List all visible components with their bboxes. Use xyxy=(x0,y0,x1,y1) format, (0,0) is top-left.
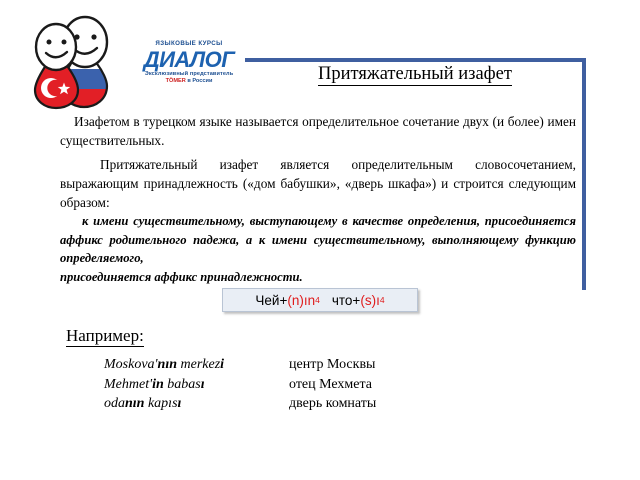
example-1-stem: babas xyxy=(164,377,201,392)
title-frame-right-line xyxy=(582,58,586,290)
examples-heading: Например: xyxy=(66,326,144,346)
formula-part1-superscript: 4 xyxy=(315,295,320,305)
logo-wordmark: ЯЗЫКОВЫЕ КУРСЫ ДИАЛОГ Эксклюзивный предс… xyxy=(134,40,244,85)
example-0-prefix: Moskova' xyxy=(104,357,158,372)
rule-text-part-b: присоединяется аффикс принадлежности. xyxy=(60,268,576,287)
example-2-possessive-affix: ı xyxy=(178,396,182,411)
examples-heading-text: Например: xyxy=(66,326,144,347)
page-title: Притяжательный изафет xyxy=(252,64,578,85)
example-2-stem: kapıs xyxy=(144,396,177,411)
example-2-prefix: oda xyxy=(104,396,125,411)
paragraph-possessive-izafet: Притяжательный изафет является определит… xyxy=(60,155,576,212)
logo-tomer-rest: в России xyxy=(186,78,213,84)
table-row: Moskova'nın merkezi центр Москвы xyxy=(104,356,504,376)
paragraph-definition: Изафетом в турецком языке называется опр… xyxy=(60,112,576,150)
formula-part2-affix: (s)ı xyxy=(360,293,380,308)
affix-formula-box: Чей+(n)ın4 что+(s)ı4 xyxy=(222,288,418,312)
two-smiley-faces-flags-icon xyxy=(18,12,130,110)
rule-text-part-a: к имени существительному, выступающему в… xyxy=(60,214,576,265)
example-russian-1: отец Мехмета xyxy=(289,376,504,396)
example-1-possessive-affix: ı xyxy=(201,377,205,392)
example-0-genitive-affix: nın xyxy=(158,357,177,372)
formula-part1-affix: (n)ın xyxy=(287,293,315,308)
logo-tagline-representative: Эксклюзивный представитель xyxy=(134,71,244,78)
paragraph-rule-bold: к имени существительному, выступающему в… xyxy=(60,212,576,286)
formula-part2-superscript: 4 xyxy=(380,295,385,305)
example-0-possessive-affix: i xyxy=(220,357,224,372)
logo-word-dialog: ДИАЛОГ xyxy=(134,48,244,71)
title-frame-top-line xyxy=(245,58,586,62)
dialog-logo: ЯЗЫКОВЫЕ КУРСЫ ДИАЛОГ Эксклюзивный предс… xyxy=(18,12,243,110)
example-russian-0: центр Москвы xyxy=(289,356,504,376)
example-2-genitive-affix: nın xyxy=(125,396,144,411)
logo-tagline-tomer: TÖMER в России xyxy=(134,78,244,85)
example-russian-2: дверь комнаты xyxy=(289,395,504,415)
formula-part1-label: Чей+ xyxy=(255,293,287,308)
table-row: odanın kapısı дверь комнаты xyxy=(104,395,504,415)
examples-table: Moskova'nın merkezi центр Москвы Mehmet'… xyxy=(104,356,504,415)
logo-tomer-brand: TÖMER xyxy=(166,78,186,84)
example-turkish-2: odanın kapısı xyxy=(104,395,289,415)
example-turkish-1: Mehmet'in babası xyxy=(104,376,289,396)
example-1-prefix: Mehmet' xyxy=(104,377,152,392)
example-0-stem: merkez xyxy=(177,357,220,372)
table-row: Mehmet'in babası отец Мехмета xyxy=(104,376,504,396)
page-title-text: Притяжательный изафет xyxy=(318,64,512,86)
formula-part2-label: что+ xyxy=(332,293,360,308)
example-turkish-0: Moskova'nın merkezi xyxy=(104,356,289,376)
example-1-genitive-affix: in xyxy=(152,377,164,392)
slide-canvas: ЯЗЫКОВЫЕ КУРСЫ ДИАЛОГ Эксклюзивный предс… xyxy=(0,0,640,480)
